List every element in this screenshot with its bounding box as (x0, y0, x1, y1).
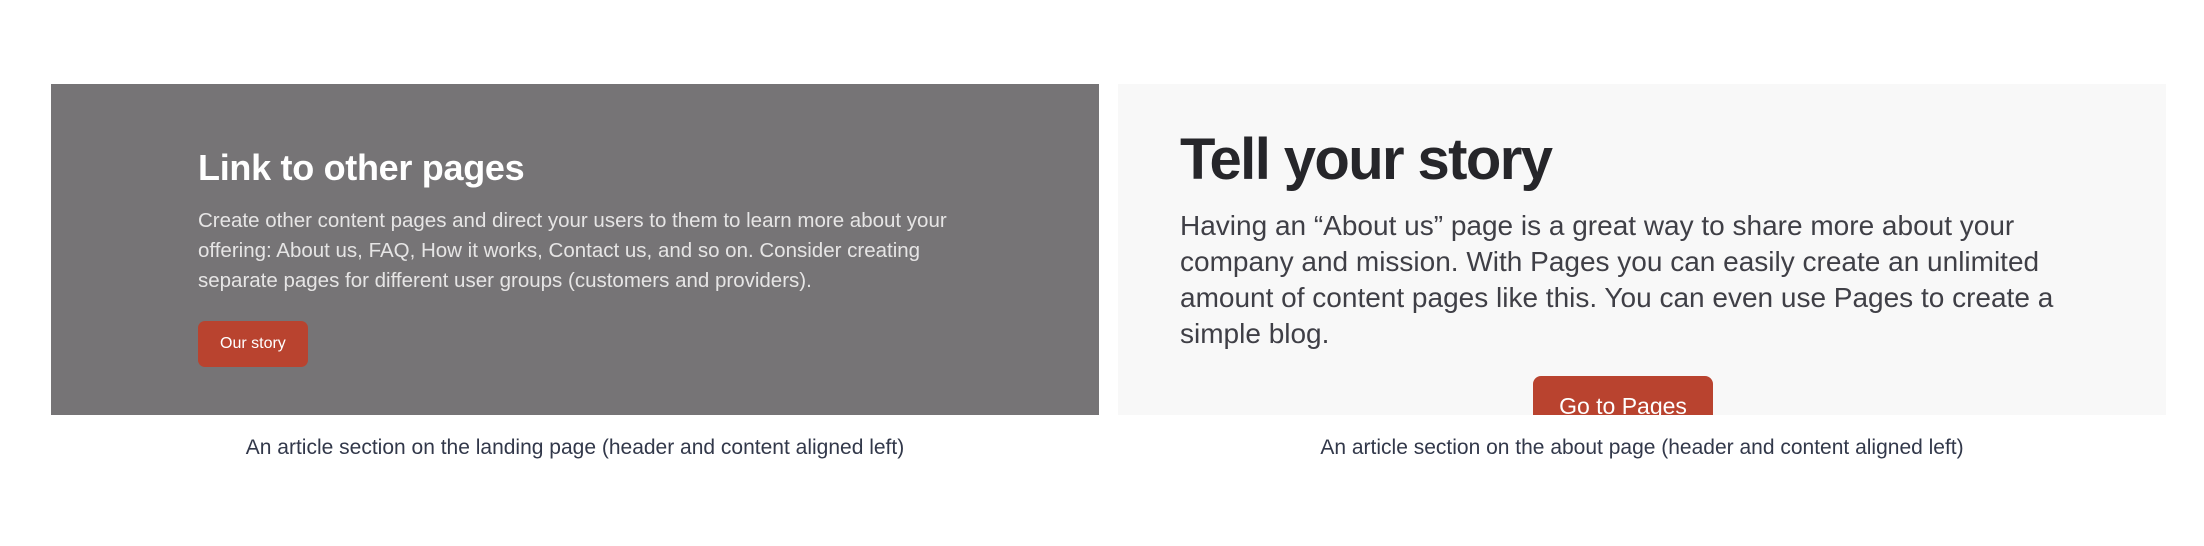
card-content-landing: Link to other pages Create other content… (198, 146, 958, 367)
about-article-heading: Tell your story (1180, 126, 2066, 194)
article-section-card-landing: Link to other pages Create other content… (51, 84, 1099, 415)
landing-article-body: Create other content pages and direct yo… (198, 206, 953, 296)
landing-example-caption: An article section on the landing page (… (51, 435, 1099, 461)
card-content-about: Tell your story Having an “About us” pag… (1180, 126, 2066, 415)
our-story-button[interactable]: Our story (198, 321, 308, 367)
page-root: Link to other pages Create other content… (0, 0, 2204, 546)
about-button-row: Go to Pages (1180, 352, 2066, 415)
about-example-caption: An article section on the about page (he… (1118, 435, 2166, 461)
about-page-example-panel: Tell your story Having an “About us” pag… (1118, 84, 2166, 461)
landing-page-example-panel: Link to other pages Create other content… (51, 84, 1099, 461)
article-section-card-about: Tell your story Having an “About us” pag… (1118, 84, 2166, 415)
landing-article-heading: Link to other pages (198, 146, 958, 190)
go-to-pages-button[interactable]: Go to Pages (1533, 376, 1713, 415)
about-article-body: Having an “About us” page is a great way… (1180, 208, 2066, 352)
